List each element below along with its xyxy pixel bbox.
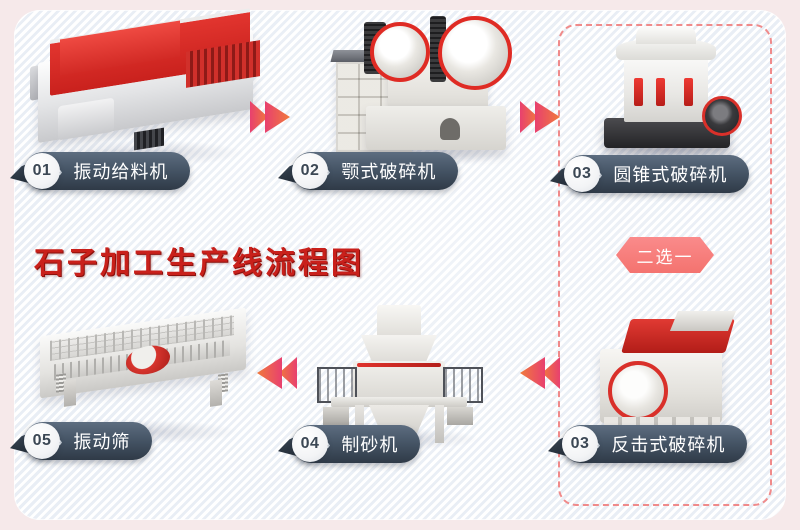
- jaw-crusher-image: [318, 10, 518, 160]
- double-chevron-left-icon: [518, 353, 564, 393]
- step-02-label[interactable]: › 颚式破碎机 02: [292, 152, 458, 190]
- double-chevron-right-icon: [518, 97, 564, 137]
- step-04-label[interactable]: › 制砂机 04: [292, 425, 420, 463]
- step-03a-label[interactable]: › 圆锥式破碎机 03: [564, 155, 749, 193]
- step-04-number: 04: [292, 426, 328, 462]
- step-03b-label[interactable]: › 反击式破碎机 03: [562, 425, 747, 463]
- step-05-label[interactable]: › 振动筛 05: [24, 422, 152, 460]
- vibrating-screen-image: [40, 302, 260, 442]
- double-chevron-left-icon: [255, 353, 301, 393]
- cone-crusher-image: [598, 22, 748, 157]
- step-02-text: 颚式破碎机: [341, 158, 436, 184]
- step-04-text: 制砂机: [341, 431, 398, 457]
- choose-one-text: 二选一: [637, 243, 694, 268]
- step-02-number: 02: [292, 153, 328, 189]
- sand-maker-image: [325, 305, 475, 445]
- step-03b-text: 反击式破碎机: [611, 431, 725, 457]
- double-chevron-right-icon: [248, 97, 294, 137]
- step-01-number: 01: [24, 153, 60, 189]
- choose-one-badge: 二选一: [616, 237, 714, 273]
- page-title: 石子加工生产线流程图: [34, 238, 364, 282]
- step-03a-number: 03: [564, 156, 600, 192]
- impact-crusher-image: [590, 305, 750, 445]
- step-05-number: 05: [24, 423, 60, 459]
- vibrating-feeder-image: [38, 18, 268, 163]
- arrow-4: [255, 353, 301, 393]
- arrow-1: [248, 97, 294, 137]
- step-01-label[interactable]: › 振动给料机 01: [24, 152, 190, 190]
- step-01-text: 振动给料机: [73, 158, 168, 184]
- step-03a-text: 圆锥式破碎机: [613, 161, 727, 187]
- step-03b-number: 03: [562, 426, 598, 462]
- step-05-text: 振动筛: [73, 428, 130, 454]
- flowchart-stage: › 振动给料机 01 › 颚式: [0, 0, 800, 530]
- arrow-3: [518, 353, 564, 393]
- arrow-2: [518, 97, 564, 137]
